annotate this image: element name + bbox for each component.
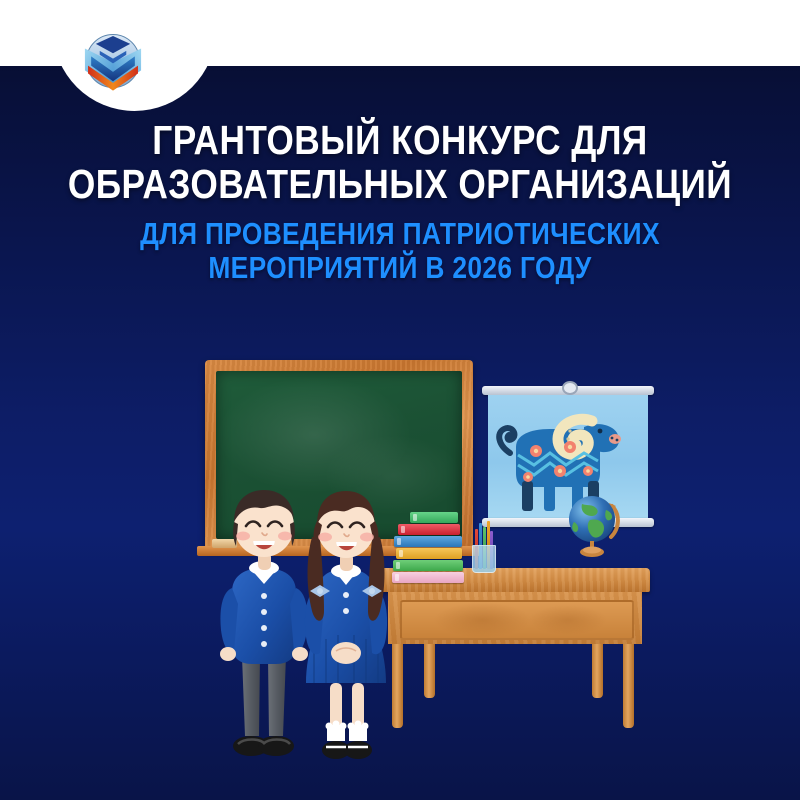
list-item (396, 548, 462, 559)
subtitle-line-2: МЕРОПРИЯТИЙ В 2026 ГОДУ (60, 251, 740, 286)
desk-leg (392, 644, 403, 728)
list-item (398, 524, 460, 535)
schoolgirl (300, 487, 392, 780)
desk-leg (623, 644, 634, 728)
title-line-2: ОБРАЗОВАТЕЛЬНЫХ ОРГАНИЗАЦИЙ (56, 162, 744, 206)
desk-leg (424, 644, 435, 698)
teacher-desk (380, 568, 650, 748)
title-line-1: ГРАНТОВЫЙ КОНКУРС ДЛЯ (56, 118, 744, 162)
pencil-cup (470, 515, 496, 573)
subtitle-line-1: ДЛЯ ПРОВЕДЕНИЯ ПАТРИОТИЧЕСКИХ (60, 217, 740, 252)
poster-canvas: ГРАНТОВЫЙ КОНКУРС ДЛЯ ОБРАЗОВАТЕЛЬНЫХ ОР… (0, 0, 800, 800)
cup-body (472, 545, 496, 573)
schoolboy (218, 484, 310, 780)
list-item (393, 560, 463, 571)
desk-globe (566, 490, 624, 564)
list-item (394, 536, 462, 547)
book-stack (392, 512, 464, 584)
list-item (392, 572, 464, 583)
headline-block: ГРАНТОВЫЙ КОНКУРС ДЛЯ ОБРАЗОВАТЕЛЬНЫХ ОР… (0, 118, 800, 286)
desk-leg (592, 644, 603, 698)
education-shield-logo (74, 22, 152, 100)
list-item (410, 512, 458, 523)
desk-front-panel (400, 600, 634, 640)
poster-hook-icon (562, 381, 578, 395)
subtitle-block: ДЛЯ ПРОВЕДЕНИЯ ПАТРИОТИЧЕСКИХ МЕРОПРИЯТИ… (0, 217, 800, 286)
